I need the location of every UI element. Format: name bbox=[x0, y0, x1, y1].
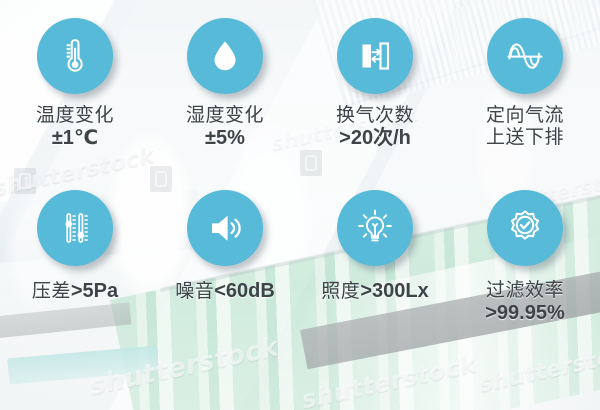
airflow-wave-icon bbox=[502, 34, 548, 78]
metric-label: 定向气流 bbox=[486, 105, 564, 127]
metric-item-humidity[interactable]: 湿度变化 ±5% bbox=[150, 18, 300, 190]
metric-label: 湿度变化 bbox=[186, 105, 264, 127]
metric-caption: 压差>5Pa bbox=[32, 280, 118, 304]
metric-item-air-changes[interactable]: 换气次数 >20次/h bbox=[300, 18, 450, 190]
metric-value: ±5% bbox=[186, 127, 264, 151]
metric-icon-badge[interactable] bbox=[37, 18, 113, 94]
water-drop-icon bbox=[203, 34, 247, 78]
metric-caption: 换气次数 >20次/h bbox=[336, 105, 414, 151]
metric-icon-badge[interactable] bbox=[337, 190, 413, 266]
pressure-slider-icon bbox=[53, 206, 97, 250]
metric-value: >300Lx bbox=[360, 280, 428, 302]
thermometer-icon bbox=[53, 34, 97, 78]
metric-item-temperature[interactable]: 温度变化 ±1℃ bbox=[0, 18, 150, 190]
metric-item-pressure[interactable]: 压差>5Pa bbox=[0, 190, 150, 362]
metric-caption: 照度>300Lx bbox=[321, 280, 428, 304]
metric-item-illuminance[interactable]: 照度>300Lx bbox=[300, 190, 450, 362]
metric-value: >20次/h bbox=[336, 127, 414, 151]
metric-caption: 定向气流 上送下排 bbox=[486, 105, 564, 150]
metric-caption: 过滤效率 >99.95% bbox=[485, 280, 565, 326]
metric-item-noise[interactable]: 噪音<60dB bbox=[150, 190, 300, 362]
metric-icon-badge[interactable] bbox=[487, 18, 563, 94]
metric-icon-badge[interactable] bbox=[187, 190, 263, 266]
metrics-grid: 温度变化 ±1℃ 湿度变化 ±5% bbox=[0, 0, 600, 410]
metric-icon-badge[interactable] bbox=[37, 190, 113, 266]
metric-value: <60dB bbox=[214, 280, 275, 302]
metric-label: 过滤效率 bbox=[485, 280, 565, 302]
lightbulb-icon bbox=[352, 205, 398, 251]
metric-label: 换气次数 bbox=[336, 105, 414, 127]
metric-icon-badge[interactable] bbox=[187, 18, 263, 94]
metric-value: >99.95% bbox=[485, 302, 565, 326]
speaker-icon bbox=[203, 206, 247, 250]
metric-label: 照度 bbox=[321, 281, 360, 302]
metric-caption: 温度变化 ±1℃ bbox=[36, 105, 114, 151]
metric-icon-badge[interactable] bbox=[337, 18, 413, 94]
metric-label: 温度变化 bbox=[36, 105, 114, 127]
metric-caption: 湿度变化 ±5% bbox=[186, 105, 264, 151]
metric-item-airflow[interactable]: 定向气流 上送下排 bbox=[450, 18, 600, 190]
metric-value: >5Pa bbox=[71, 280, 118, 302]
metric-value: 上送下排 bbox=[486, 127, 564, 149]
air-exchange-icon bbox=[353, 34, 397, 78]
metric-label: 压差 bbox=[32, 281, 71, 302]
metric-item-filtration[interactable]: 过滤效率 >99.95% bbox=[450, 190, 600, 362]
metric-icon-badge[interactable] bbox=[487, 190, 563, 266]
infographic-root: shutterstock shutterstock shutterstock s… bbox=[0, 0, 600, 410]
certified-badge-icon bbox=[502, 205, 548, 251]
metric-label: 噪音 bbox=[175, 281, 214, 302]
metric-caption: 噪音<60dB bbox=[175, 280, 275, 304]
metric-value: ±1℃ bbox=[36, 127, 114, 151]
